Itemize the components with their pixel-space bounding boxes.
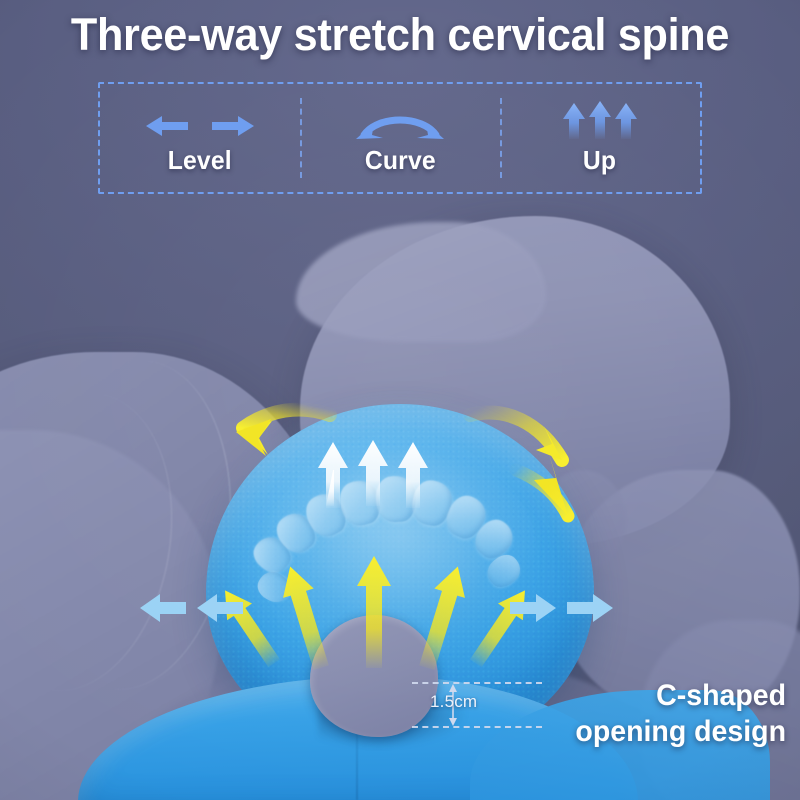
yellow-fan-arrow [357, 556, 391, 668]
white-up-arrow [398, 442, 428, 508]
feature-label: Curve [365, 145, 436, 176]
white-up-arrow [318, 442, 348, 508]
yellow-fan-arrow [213, 582, 287, 672]
c-shape-callout: C-shaped opening design [511, 678, 787, 750]
light-blue-arrow-right [567, 594, 613, 622]
dimension-label: 1.5cm [430, 692, 477, 712]
yellow-fan-arrow [463, 582, 537, 672]
yellow-fan-arrows [213, 556, 538, 673]
feature-item-curve[interactable]: Curve [300, 84, 500, 192]
light-blue-arrow-left [140, 594, 186, 622]
yellow-fan-arrow [412, 562, 474, 673]
c-shape-line-1: C-shaped [511, 678, 787, 714]
feature-item-up[interactable]: Up [500, 84, 700, 192]
yellow-curve-arrow-right [470, 413, 568, 516]
triple-up-arrow-icon [552, 101, 648, 141]
yellow-fan-arrow [275, 562, 337, 673]
light-blue-right-arrows [510, 594, 613, 622]
white-up-arrows [318, 440, 428, 508]
feature-label: Up [583, 145, 616, 176]
feature-box: Level Curve [98, 82, 702, 194]
white-up-arrow [358, 440, 388, 506]
page-title: Three-way stretch cervical spine [16, 6, 784, 64]
feature-label: Level [168, 145, 232, 176]
yellow-curve-arrow-left [236, 409, 330, 456]
curved-double-arrow-icon [344, 101, 456, 141]
feature-item-level[interactable]: Level [100, 84, 300, 192]
double-horizontal-arrow-icon [144, 101, 256, 141]
c-shape-line-2: opening design [511, 714, 787, 750]
